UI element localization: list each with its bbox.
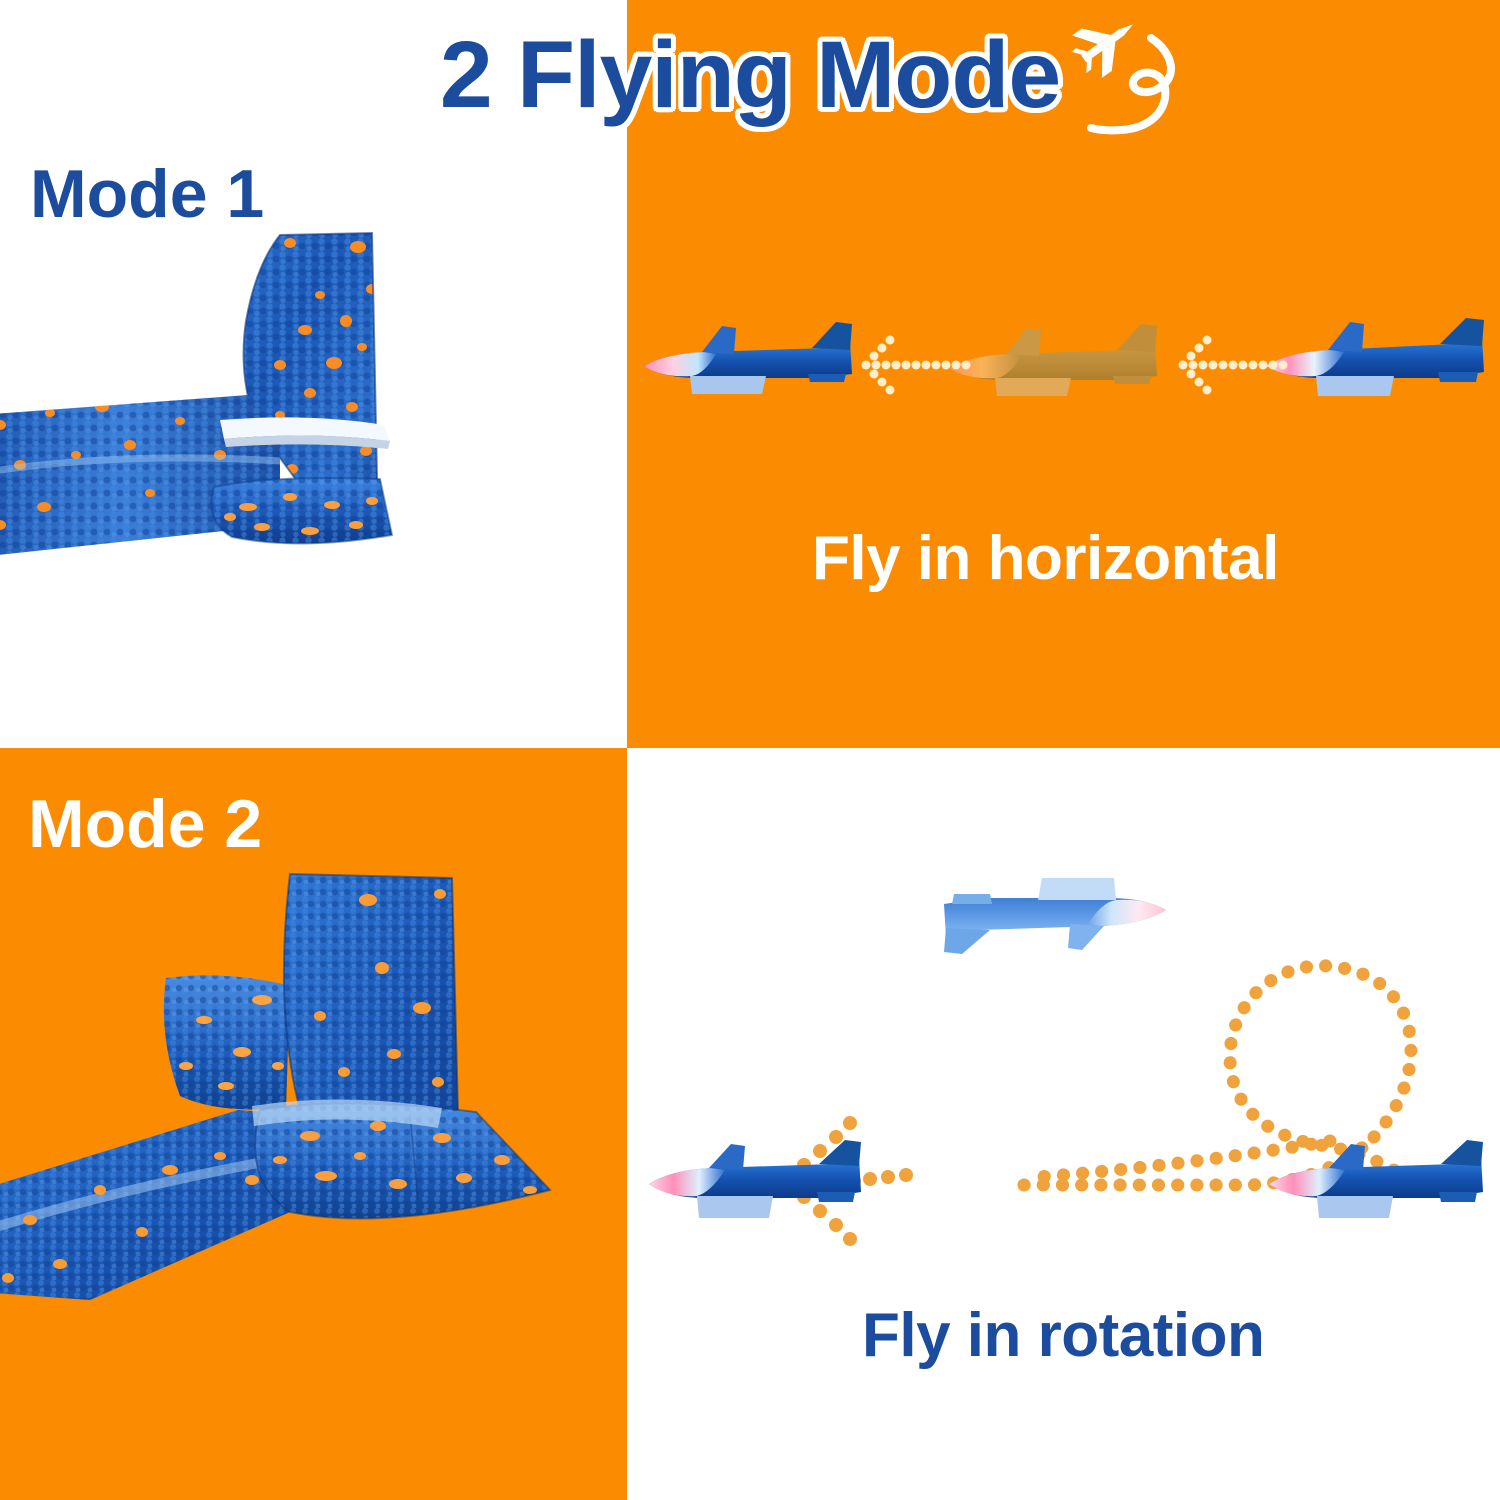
plane-rotation-top-inverted [940,862,1172,954]
dotted-arrow-left-1 [858,332,978,398]
dotted-arrow-left-2 [1175,332,1295,398]
plane-horizontal-left [640,320,860,410]
caption-fly-in-horizontal: Fly in horizontal [812,528,1279,590]
plane-rotation-right [1265,1140,1487,1235]
caption-fly-in-rotation: Fly in rotation [862,1305,1264,1367]
mode-1-label: Mode 1 [30,160,264,228]
plane-rotation-left [645,1140,865,1235]
plane-horizontal-middle-faded [945,322,1165,412]
glider-photo-mode-1 [0,225,540,625]
airplane-with-loop-trail-icon [1055,2,1185,142]
plane-horizontal-right [1262,318,1490,410]
glider-photo-mode-2 [0,860,610,1380]
infographic-canvas: 2 Flying Mode Mode 1 Mode 2 Fly in horiz… [0,0,1500,1500]
mode-2-label: Mode 2 [28,790,262,858]
